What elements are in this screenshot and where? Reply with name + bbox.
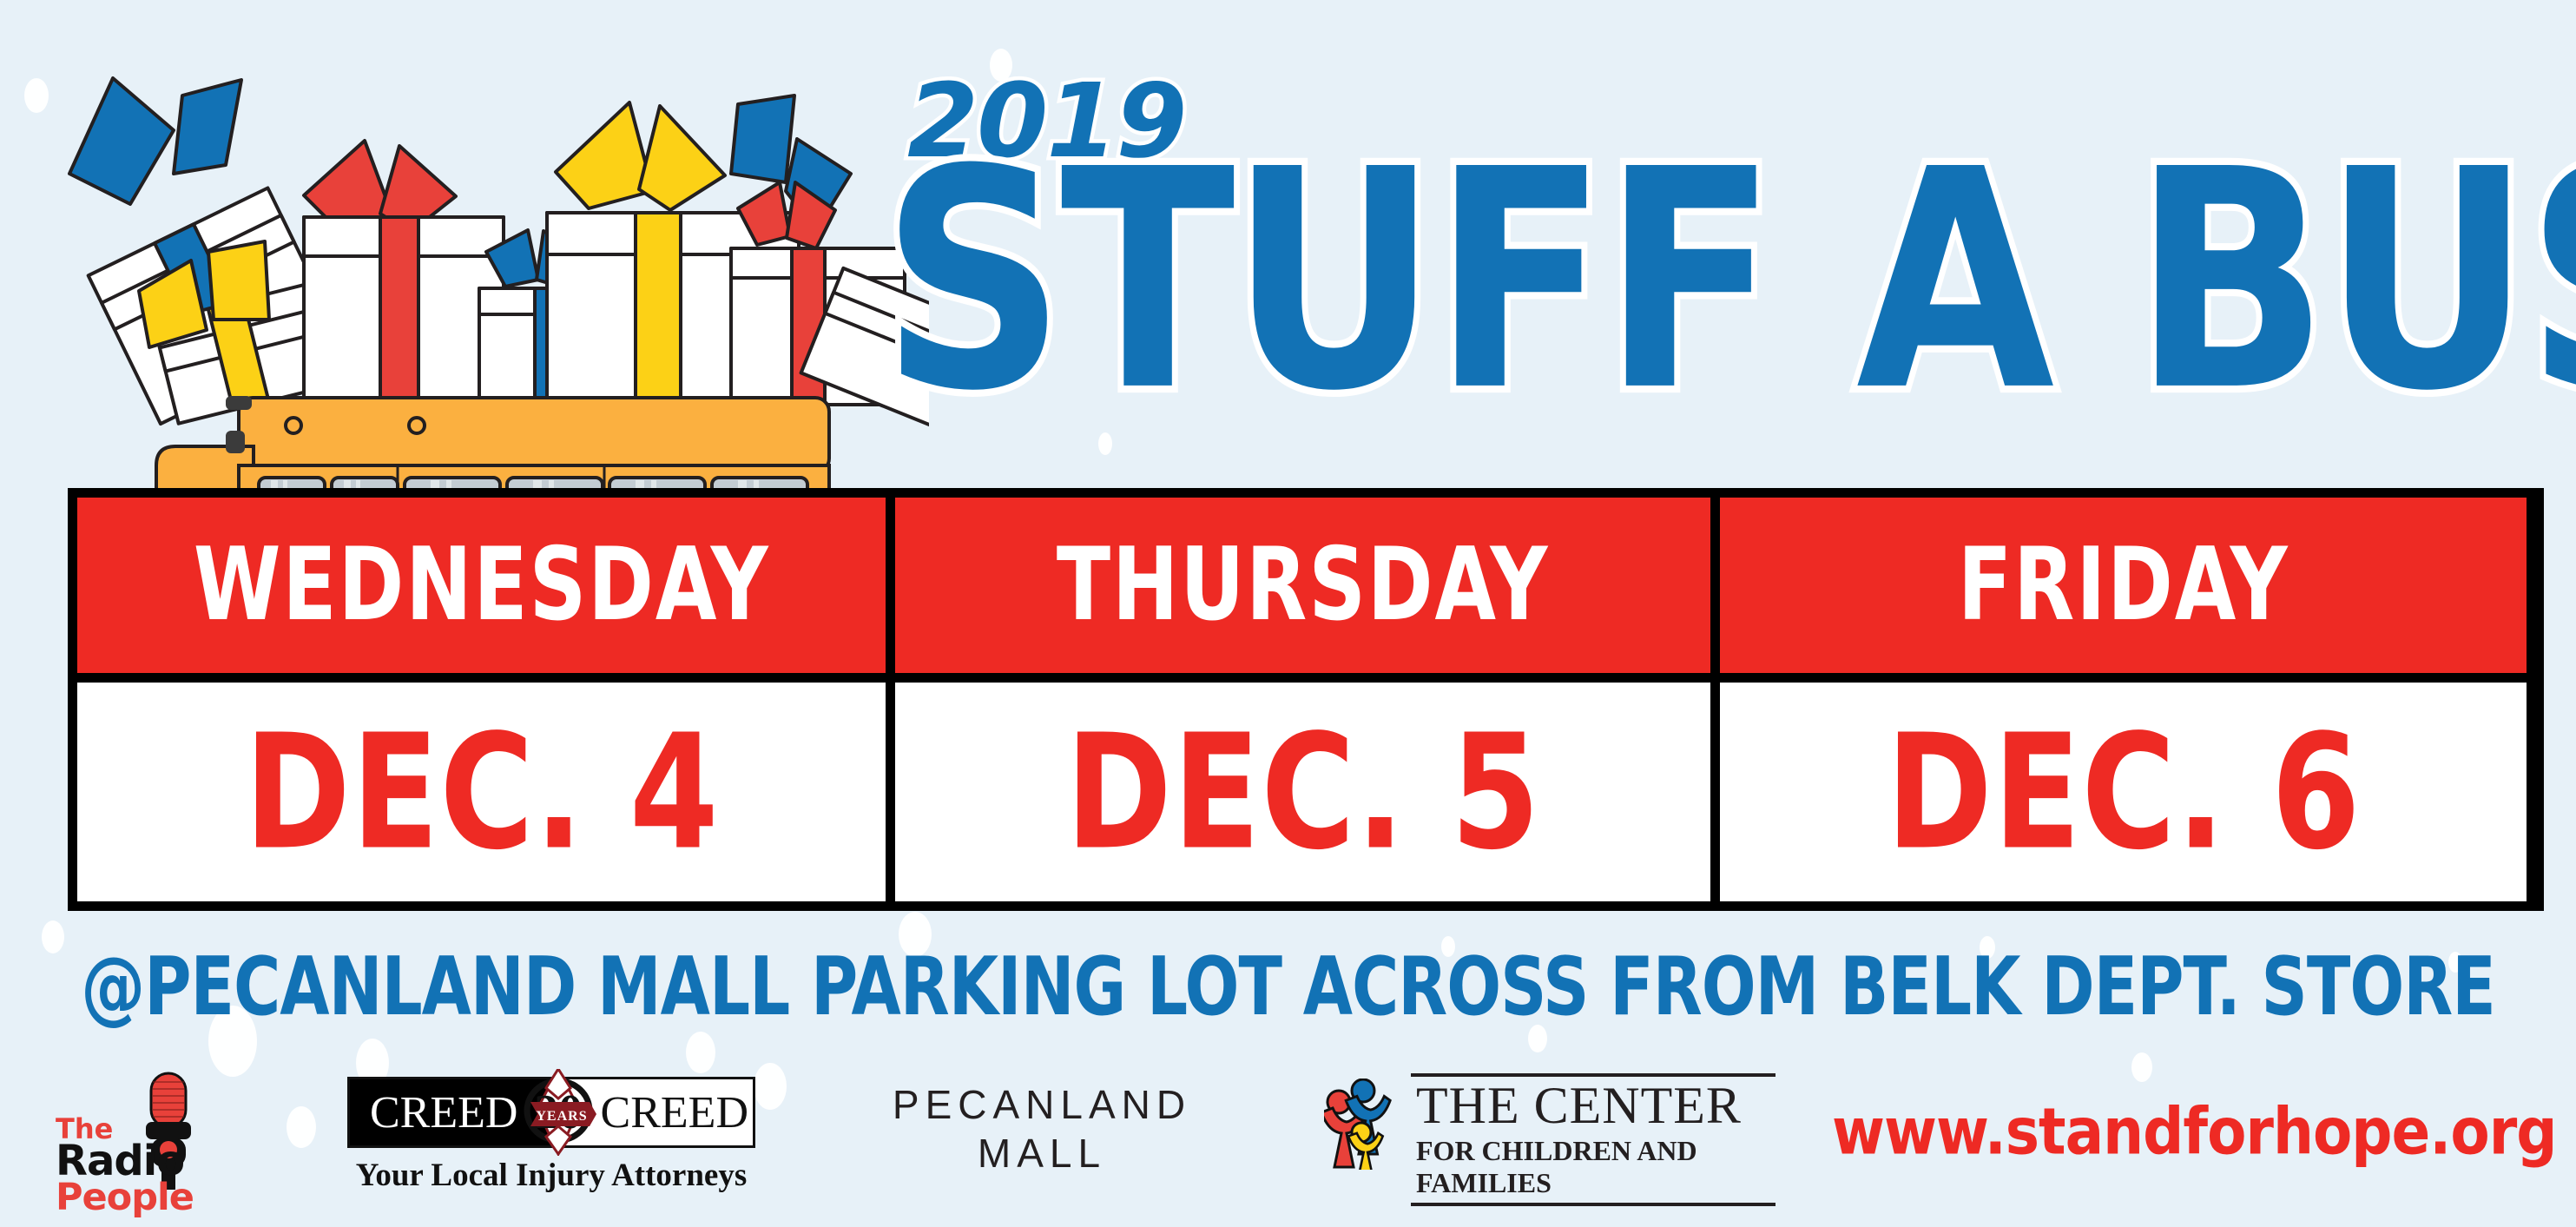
day-header-cell: FRIDAY — [1720, 498, 2527, 673]
date-cell: DEC. 6 — [1720, 683, 2527, 901]
sponsor-logo-creed-and-creed[interactable]: CREED CREED 20 YEARS Your Local Injury A… — [347, 1077, 764, 1216]
date-cell: DEC. 5 — [895, 683, 1710, 901]
pecanland-line1: PECANLAND — [847, 1080, 1237, 1129]
date-label: DEC. 5 — [1065, 700, 1540, 884]
the-center-line2: FOR CHILDREN AND FAMILIES — [1411, 1133, 1776, 1203]
schedule-table: WEDNESDAY THURSDAY FRIDAY DEC. 4 DEC. 5 … — [68, 488, 2544, 911]
date-label: DEC. 6 — [1886, 700, 2361, 884]
bus-with-gifts-illustration — [52, 43, 929, 495]
day-label: FRIDAY — [1958, 527, 2289, 643]
date-cell: DEC. 4 — [77, 683, 886, 901]
day-header-cell: WEDNESDAY — [77, 498, 886, 673]
schedule-date-row: DEC. 4 DEC. 5 DEC. 6 — [77, 683, 2534, 901]
creed-word-right: CREED — [601, 1087, 748, 1138]
sponsor-logo-the-center[interactable]: THE CENTER FOR CHILDREN AND FAMILIES — [1324, 1073, 1776, 1217]
pecanland-line2: MALL — [847, 1129, 1237, 1178]
svg-text:YEARS: YEARS — [536, 1109, 587, 1124]
page-title: STUFF A BUS — [881, 130, 2557, 432]
location-text: @PECANLAND MALL PARKING LOT ACROSS FROM … — [0, 940, 2576, 1034]
twenty-years-badge-icon: 20 YEARS — [517, 1069, 600, 1156]
radio-people-wordmark: The Radio People — [56, 1117, 212, 1215]
website-url[interactable]: www.standforhope.org — [1832, 1094, 2553, 1169]
decorative-bubble — [24, 78, 49, 113]
title-block: 2019 STUFF A BUS — [881, 35, 2557, 495]
schedule-header-row: WEDNESDAY THURSDAY FRIDAY — [77, 498, 2534, 673]
date-label: DEC. 4 — [244, 700, 719, 884]
the-center-line1: THE CENTER — [1411, 1077, 1776, 1133]
radio-people-line2: Radio — [56, 1142, 212, 1180]
three-figures-icon — [1324, 1079, 1402, 1170]
day-label: THURSDAY — [1057, 527, 1549, 643]
sponsor-logo-radio-people[interactable]: The Radio People — [54, 1075, 254, 1214]
sponsor-row: The Radio People CREED CREED 20 YEARS — [0, 1068, 2576, 1227]
sponsor-logo-pecanland-mall[interactable]: PECANLAND MALL — [847, 1080, 1237, 1211]
creed-tagline: Your Local Injury Attorneys — [347, 1157, 755, 1194]
day-label: WEDNESDAY — [194, 527, 770, 643]
day-header-cell: THURSDAY — [895, 498, 1710, 673]
radio-people-line3: People — [56, 1181, 212, 1216]
poster-canvas: 2019 STUFF A BUS WEDNESDAY THURSDAY FRID… — [0, 0, 2576, 1227]
the-center-wordmark: THE CENTER FOR CHILDREN AND FAMILIES — [1411, 1073, 1776, 1206]
decorative-bubble — [686, 1032, 715, 1073]
divider-bottom — [1411, 1203, 1776, 1206]
creed-word-left: CREED — [370, 1087, 517, 1138]
